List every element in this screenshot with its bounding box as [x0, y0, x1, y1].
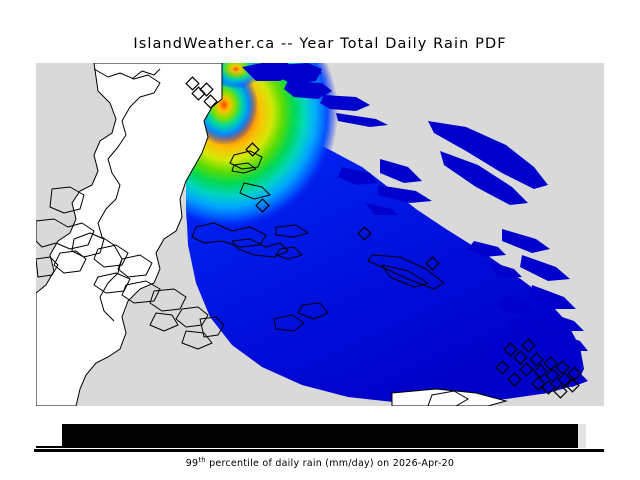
caption-ordinal-suffix: th [198, 456, 205, 464]
colorbar-caption: 99th percentile of daily rain (mm/day) o… [0, 458, 640, 469]
caption-description: percentile of daily rain (mm/day) on 202… [206, 458, 454, 469]
colorbar[interactable] [62, 424, 578, 448]
colorbar-gradient [62, 424, 578, 448]
colorbar-tail [578, 424, 586, 448]
map-graphic [36, 63, 604, 406]
figure-canvas: IslandWeather.ca -- Year Total Daily Rai… [0, 0, 640, 480]
colorbar-tick-arrow [36, 446, 62, 448]
page-title: IslandWeather.ca -- Year Total Daily Rai… [0, 36, 640, 52]
mainland-landmass [36, 63, 222, 406]
caption-percentile-number: 99 [186, 458, 199, 469]
colorbar-axis-line [34, 449, 604, 452]
map-panel[interactable] [36, 63, 604, 406]
